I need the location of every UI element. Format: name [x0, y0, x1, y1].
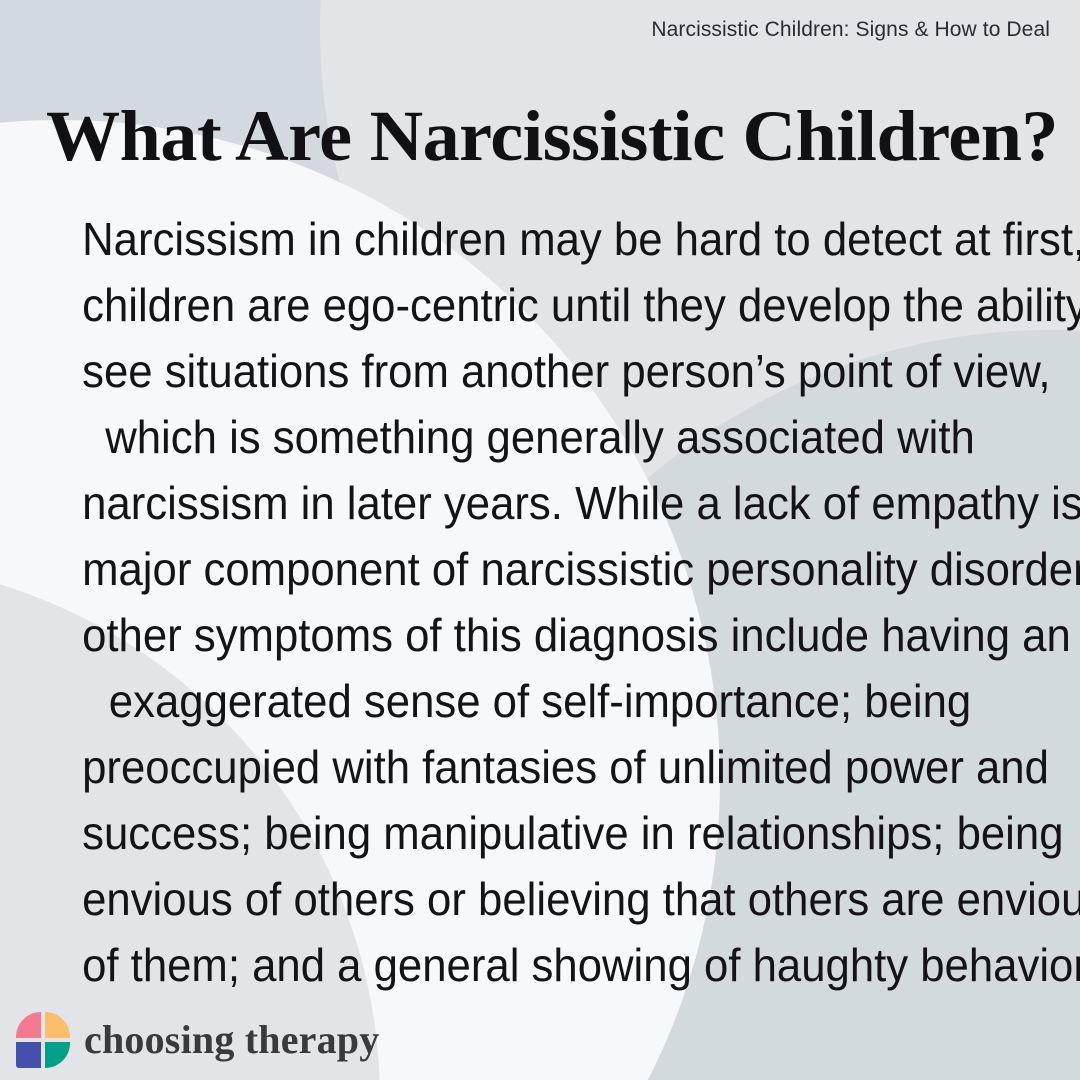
article-eyebrow: Narcissistic Children: Signs & How to De…: [651, 18, 1050, 42]
pinwheel-logo-icon: [16, 1012, 70, 1068]
body-line: which is something generally associated …: [82, 404, 998, 470]
body-paragraph: Narcissism in children may be hard to de…: [82, 206, 998, 998]
body-line: success; being manipulative in relations…: [82, 800, 998, 866]
body-line: exaggerated sense of self-importance; be…: [82, 668, 998, 734]
choosing-therapy-logo: choosing therapy: [16, 1012, 379, 1068]
body-line: children are ego-centric until they deve…: [82, 272, 998, 338]
logo-quadrant-top-right: [45, 1012, 70, 1038]
body-line: see situations from another person’s poi…: [82, 338, 998, 404]
body-line: preoccupied with fantasies of unlimited …: [82, 734, 998, 800]
page-title: What Are Narcissistic Children?: [46, 96, 1070, 176]
logo-quadrant-bottom-left: [16, 1042, 41, 1068]
body-line: major component of narcissistic personal…: [82, 536, 998, 602]
body-line: other symptoms of this diagnosis include…: [82, 602, 998, 668]
body-line: of them; and a general showing of haught…: [82, 932, 998, 998]
body-line: Narcissism in children may be hard to de…: [82, 206, 998, 272]
body-line: narcissism in later years. While a lack …: [82, 470, 998, 536]
logo-quadrant-top-left: [16, 1012, 41, 1038]
info-card: Narcissistic Children: Signs & How to De…: [0, 0, 1080, 1080]
logo-quadrant-bottom-right: [45, 1042, 70, 1068]
logo-wordmark: choosing therapy: [84, 1020, 379, 1060]
body-line: envious of others or believing that othe…: [82, 866, 998, 932]
